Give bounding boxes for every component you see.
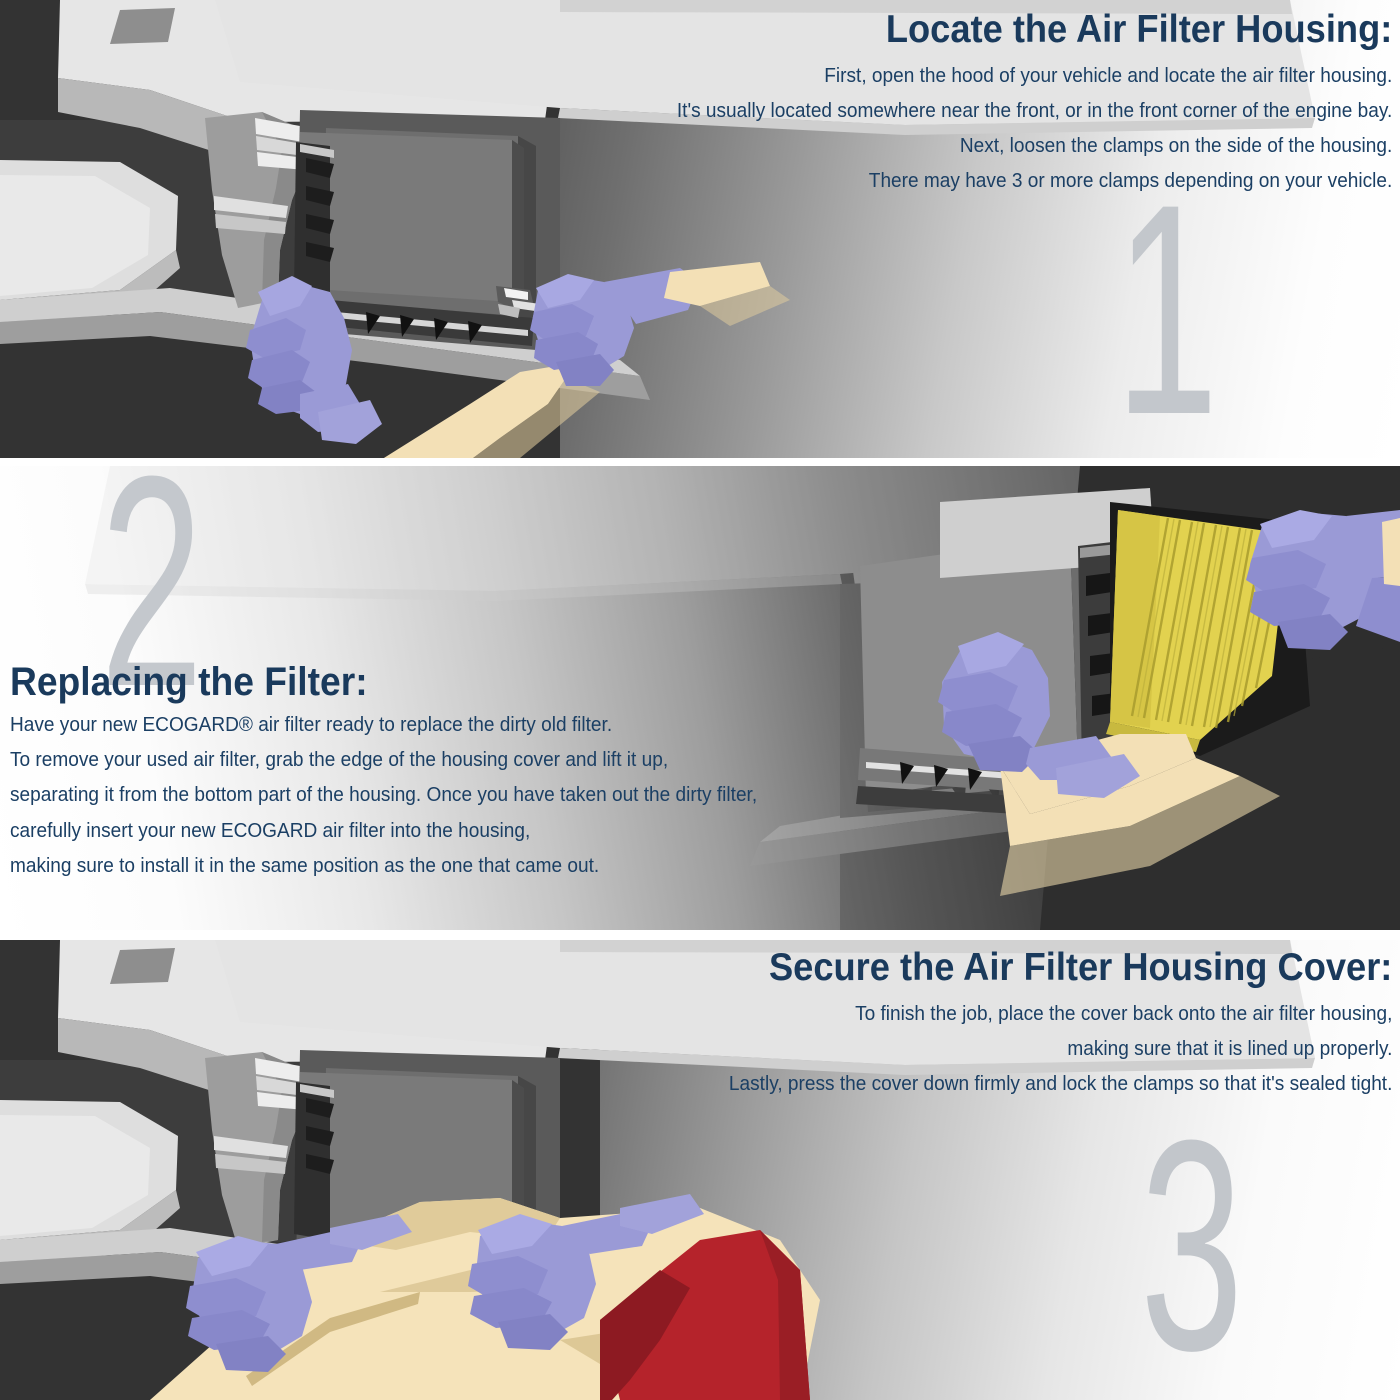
step-1-line-4: There may have 3 or more clamps dependin… xyxy=(677,163,1392,198)
step-panel-2: 2 Replacing the Filter: Have your new EC… xyxy=(0,466,1400,930)
step-panel-1: 1 Locate the Air Filter Housing: First, … xyxy=(0,0,1400,458)
step-1-line-2: It's usually located somewhere near the … xyxy=(677,93,1392,128)
step-2-text-block: Replacing the Filter: Have your new ECOG… xyxy=(10,660,813,883)
step-2-line-2: To remove your used air filter, grab the… xyxy=(10,742,757,777)
step-1-line-1: First, open the hood of your vehicle and… xyxy=(677,58,1392,93)
air-filter-replacement-infographic: 1 Locate the Air Filter Housing: First, … xyxy=(0,0,1400,1400)
step-3-line-3: Lastly, press the cover down firmly and … xyxy=(729,1066,1392,1101)
step-1-text-block: Locate the Air Filter Housing: First, op… xyxy=(623,8,1392,199)
step-3-title: Secure the Air Filter Housing Cover: xyxy=(729,946,1392,990)
step-2-line-4: carefully insert your new ECOGARD air fi… xyxy=(10,813,757,848)
step-2-title: Replacing the Filter: xyxy=(10,660,757,705)
step-2-line-1: Have your new ECOGARD® air filter ready … xyxy=(10,707,757,742)
step-1-line-3: Next, loosen the clamps on the side of t… xyxy=(677,128,1392,163)
step-3-text-block: Secure the Air Filter Housing Cover: To … xyxy=(679,946,1392,1101)
step-3-line-1: To finish the job, place the cover back … xyxy=(729,996,1392,1031)
step-1-title: Locate the Air Filter Housing: xyxy=(677,8,1392,52)
step-3-line-2: making sure that it is lined up properly… xyxy=(729,1031,1392,1066)
step-2-line-3: separating it from the bottom part of th… xyxy=(10,777,757,812)
step-number-1: 1 xyxy=(1115,192,1215,426)
step-number-3: 3 xyxy=(1140,1128,1240,1362)
step-panel-3: 3 Secure the Air Filter Housing Cover: T… xyxy=(0,940,1400,1400)
step-2-line-5: making sure to install it in the same po… xyxy=(10,848,757,883)
